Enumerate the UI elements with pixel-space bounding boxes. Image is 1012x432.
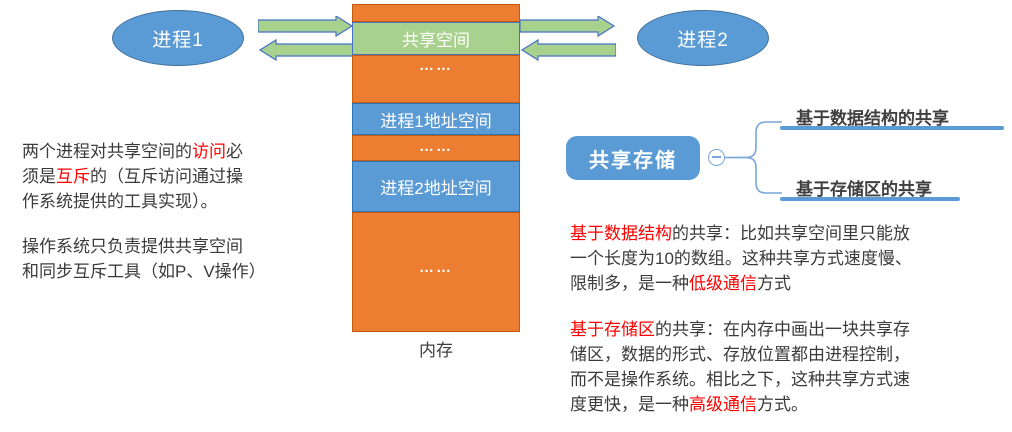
- explanation-seg-highlight: 低级通信: [689, 274, 757, 293]
- note-seg: 作系统提供的工具实现）。: [22, 192, 218, 211]
- explanation-line: 而不是操作系统。相比之下，这种共享方式速: [570, 368, 1010, 393]
- note-line: 和同步互斥工具（如P、V操作）: [22, 260, 332, 285]
- slide-canvas: 进程1 共享空间 …… 进程1地址空间 ……: [0, 0, 1012, 432]
- explanation-line: 储区，数据的形式、存放位置都由进程控制，: [570, 343, 1010, 368]
- explanation-line: 基于存储区的共享：在内存中画出一块共享存: [570, 318, 1010, 343]
- ellipsis-dots: ……: [353, 58, 519, 73]
- explanation-seg: 的共享：在内存中画出一块共享存: [655, 320, 910, 339]
- collapse-minus-icon[interactable]: [708, 149, 725, 166]
- explanation-line: 一个长度为10的数组。这种共享方式速度慢、: [570, 247, 1010, 272]
- note-line: 须是互斥的（互斥访问通过操: [22, 165, 332, 190]
- explanation-seg-highlight: 基于存储区: [570, 320, 655, 339]
- note-seg: 须是: [22, 167, 56, 186]
- memory-block-top-free: [352, 4, 520, 22]
- explanation-seg: 的共享：比如共享空间里只能放: [672, 224, 910, 243]
- ellipsis-dots: ……: [353, 139, 519, 154]
- memory-block-shared-space: 共享空间: [352, 22, 520, 55]
- explanation-seg: 储区，数据的形式、存放位置都由进程控制，: [570, 345, 910, 364]
- memory-block-label: 进程2地址空间: [380, 174, 491, 199]
- memory-block-gap-1: ……: [352, 55, 520, 103]
- arrow-right-to-process2: [520, 16, 614, 36]
- explanation-seg-highlight: 高级通信: [689, 395, 757, 414]
- arrows-left-pair: [258, 16, 354, 62]
- ellipsis-dots: ……: [353, 260, 519, 275]
- explanation-line: 基于数据结构的共享：比如共享空间里只能放: [570, 222, 1010, 247]
- explanation-line: 度更快，是一种高级通信方式。: [570, 393, 1010, 418]
- explanation-data-structure-sharing: 基于数据结构的共享：比如共享空间里只能放 一个长度为10的数组。这种共享方式速度…: [570, 222, 1010, 297]
- note-paragraph-os-role: 操作系统只负责提供共享空间 和同步互斥工具（如P、V操作）: [22, 235, 332, 285]
- mindmap-leaf-underline: [780, 197, 960, 201]
- memory-block-process2-space: 进程2地址空间: [352, 161, 520, 212]
- process-1-label: 进程1: [152, 25, 204, 52]
- explanation-seg: 一个长度为10的数组。这种共享方式速度慢、: [570, 249, 912, 268]
- note-line: 作系统提供的工具实现）。: [22, 190, 332, 215]
- note-line: 操作系统只负责提供共享空间: [22, 235, 332, 260]
- note-seg: 必: [226, 142, 243, 161]
- mindmap-shared-storage: 共享存储 基于数据结构的共享 基于存储区的共享: [566, 104, 1012, 208]
- note-paragraph-mutual-exclusion: 两个进程对共享空间的访问必 须是互斥的（互斥访问通过操 作系统提供的工具实现）。: [22, 140, 332, 215]
- memory-caption: 内存: [352, 336, 520, 361]
- explanation-storage-area-sharing: 基于存储区的共享：在内存中画出一块共享存 储区，数据的形式、存放位置都由进程控制…: [570, 318, 1010, 418]
- mindmap-connectors: [724, 104, 784, 208]
- explanation-seg: 方式。: [757, 395, 808, 414]
- memory-block-gap-3: ……: [352, 212, 520, 332]
- arrow-left-from-memory: [260, 40, 354, 60]
- note-seg: 的（互斥访问通过操: [90, 167, 243, 186]
- explanation-seg: 度更快，是一种: [570, 395, 689, 414]
- process-2-node: 进程2: [637, 10, 769, 66]
- explanation-line: 限制多，是一种低级通信方式: [570, 272, 1010, 297]
- arrow-left-to-memory: [522, 40, 616, 60]
- mindmap-leaf-data-structure[interactable]: 基于数据结构的共享: [780, 104, 1012, 132]
- arrows-right-pair: [520, 16, 616, 62]
- note-seg: 和同步互斥工具（如P、V操作）: [22, 262, 266, 281]
- memory-block-process1-space: 进程1地址空间: [352, 103, 520, 135]
- process-1-node: 进程1: [112, 10, 244, 66]
- explanation-seg: 方式: [757, 274, 791, 293]
- mindmap-root-label: 共享存储: [589, 144, 677, 173]
- explanation-seg: 限制多，是一种: [570, 274, 689, 293]
- mindmap-root-node[interactable]: 共享存储: [566, 136, 700, 180]
- note-seg-highlight: 访问: [192, 142, 226, 161]
- mindmap-leaf-storage-area[interactable]: 基于存储区的共享: [780, 175, 1012, 203]
- explanation-seg: 而不是操作系统。相比之下，这种共享方式速: [570, 370, 910, 389]
- mindmap-leaf-underline: [780, 126, 1004, 130]
- memory-block-gap-2: ……: [352, 135, 520, 161]
- memory-block-label: 进程1地址空间: [380, 107, 491, 132]
- process-2-label: 进程2: [677, 25, 729, 52]
- memory-block-label: 共享空间: [402, 26, 470, 51]
- memory-column: 共享空间 …… 进程1地址空间 …… 进程2地址空间 ……: [352, 4, 520, 332]
- explanation-seg-highlight: 基于数据结构: [570, 224, 672, 243]
- arrow-right-to-memory: [258, 16, 352, 36]
- note-seg: 两个进程对共享空间的: [22, 142, 192, 161]
- note-line: 两个进程对共享空间的访问必: [22, 140, 332, 165]
- note-seg: 操作系统只负责提供共享空间: [22, 237, 243, 256]
- note-seg-highlight: 互斥: [56, 167, 90, 186]
